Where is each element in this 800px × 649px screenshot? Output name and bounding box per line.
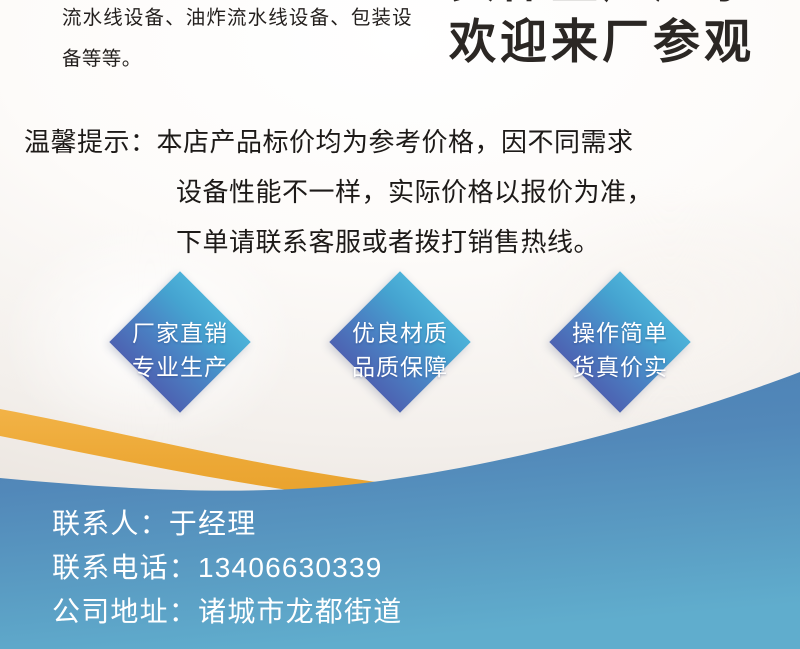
contact-person: 联系人：于经理 [52,502,692,546]
contact-block: 联系人：于经理 联系电话：13406630339 公司地址：诸城市龙都街道 [52,502,692,634]
feature-diamond-2 [329,271,470,412]
headline-line-1: 实体生产厂家 [422,0,782,11]
contact-phone: 联系电话：13406630339 [52,546,692,590]
feature-diamond-3 [549,271,690,412]
headline-line-2: 欢迎来厂参观 [422,11,782,72]
feature-diamond-row: 厂家直销 专业生产 优良材质 品质保障 操作简单 货真价实 [0,270,800,420]
feature-diamond-1 [109,271,250,412]
price-notice-line-1: 温馨提示：本店产品标价均为参考价格，因不同需求 [24,118,794,168]
contact-address: 公司地址：诸城市龙都街道 [52,590,692,634]
price-notice-line-3: 下单请联系客服或者拨打销售热线。 [24,218,794,268]
price-notice: 温馨提示：本店产品标价均为参考价格，因不同需求 设备性能不一样，实际价格以报价为… [24,118,794,268]
promo-banner: 肉类切丁机、肉类加工设备、清洗流水线设备、油炸流水线设备、包装设备等等。 实体生… [0,0,800,649]
product-intro-paragraph: 肉类切丁机、肉类加工设备、清洗流水线设备、油炸流水线设备、包装设备等等。 [62,0,412,79]
price-notice-line-2: 设备性能不一样，实际价格以报价为准， [24,168,794,218]
headline-block: 实体生产厂家 欢迎来厂参观 [422,0,782,72]
